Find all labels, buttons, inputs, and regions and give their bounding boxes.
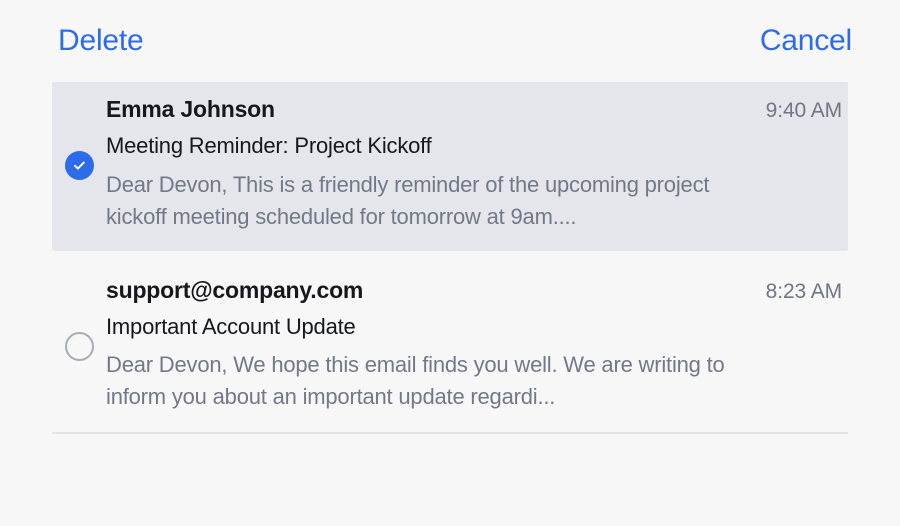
email-sender: support@company.com [106, 277, 363, 304]
row-gap [0, 251, 900, 263]
cancel-button[interactable]: Cancel [760, 26, 852, 56]
email-timestamp: 8:23 AM [766, 279, 842, 304]
selection-control [52, 330, 106, 361]
selection-control [52, 149, 106, 180]
email-list-item[interactable]: Emma Johnson 9:40 AM Meeting Reminder: P… [52, 82, 848, 251]
email-content: Emma Johnson 9:40 AM Meeting Reminder: P… [106, 96, 848, 233]
selection-toolbar: Delete Cancel [0, 0, 900, 82]
email-selection-screen: Delete Cancel Emma Johnson 9:40 AM Meeti… [0, 0, 900, 526]
email-list-item[interactable]: support@company.com 8:23 AM Important Ac… [52, 263, 848, 432]
email-subject: Important Account Update [106, 314, 842, 340]
email-preview: Dear Devon, This is a friendly reminder … [106, 169, 766, 233]
email-subject: Meeting Reminder: Project Kickoff [106, 133, 842, 159]
email-content: support@company.com 8:23 AM Important Ac… [106, 277, 848, 414]
checkbox-unchecked-icon[interactable] [65, 332, 94, 361]
email-sender: Emma Johnson [106, 96, 275, 123]
checkbox-checked-icon[interactable] [65, 151, 94, 180]
email-preview: Dear Devon, We hope this email finds you… [106, 349, 766, 413]
delete-button[interactable]: Delete [58, 26, 144, 56]
email-timestamp: 9:40 AM [766, 98, 842, 123]
email-header: Emma Johnson 9:40 AM [106, 96, 842, 123]
list-divider [52, 432, 848, 434]
email-list: Emma Johnson 9:40 AM Meeting Reminder: P… [0, 82, 900, 434]
email-header: support@company.com 8:23 AM [106, 277, 842, 304]
